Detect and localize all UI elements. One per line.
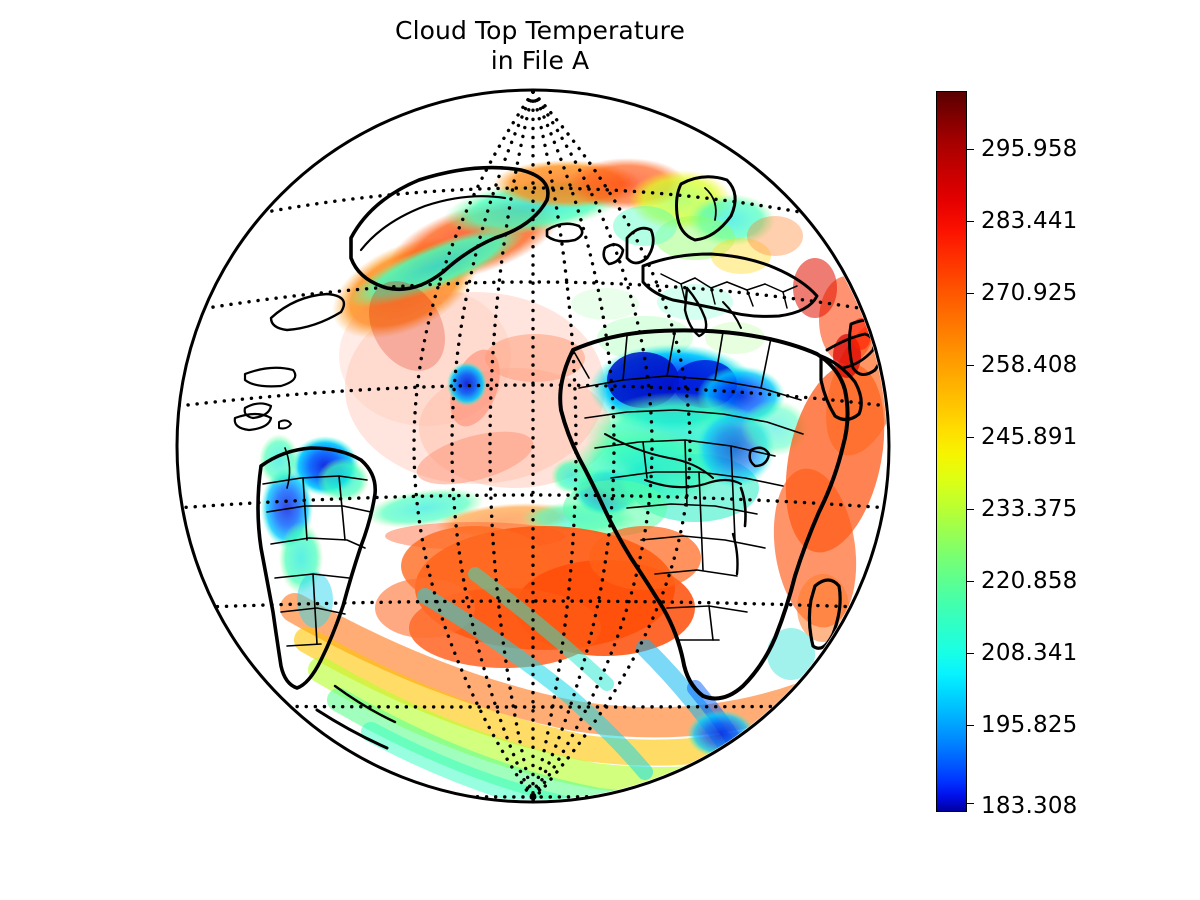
title-line-2: in File A: [0, 46, 1080, 76]
colorbar-gradient: [936, 91, 967, 812]
colorbar-tick-7: [967, 653, 974, 654]
colorbar-tick-8: [967, 725, 974, 726]
globe-svg: [175, 88, 891, 804]
colorbar-label-3: 258.408: [981, 352, 1078, 378]
colorbar-tick-1: [967, 221, 974, 222]
page-title: Cloud Top Temperature in File A: [0, 16, 1080, 75]
colorbar-label-2: 270.925: [981, 280, 1078, 306]
title-line-1: Cloud Top Temperature: [0, 16, 1080, 46]
colorbar[interactable]: 295.958 283.441 270.925 258.408 245.891 …: [936, 91, 1176, 815]
colorbar-label-4: 245.891: [981, 424, 1078, 450]
colorbar-tick-5: [967, 509, 974, 510]
colorbar-tick-9: [967, 803, 974, 804]
colorbar-label-6: 220.858: [981, 568, 1078, 594]
map-panel: [100, 78, 964, 822]
colorbar-label-9: 183.308: [981, 793, 1078, 819]
colorbar-tick-6: [967, 581, 974, 582]
colorbar-label-8: 195.825: [981, 712, 1078, 738]
colorbar-tick-0: [967, 149, 974, 150]
figure-canvas: Cloud Top Temperature in File A: [0, 0, 1200, 900]
colorbar-label-7: 208.341: [981, 640, 1078, 666]
colorbar-tick-4: [967, 437, 974, 438]
colorbar-tick-3: [967, 365, 974, 366]
colorbar-label-0: 295.958: [981, 136, 1078, 162]
colorbar-label-5: 233.375: [981, 496, 1078, 522]
globe-orthographic-projection: [175, 88, 891, 804]
colorbar-label-1: 283.441: [981, 208, 1078, 234]
colorbar-tick-2: [967, 293, 974, 294]
